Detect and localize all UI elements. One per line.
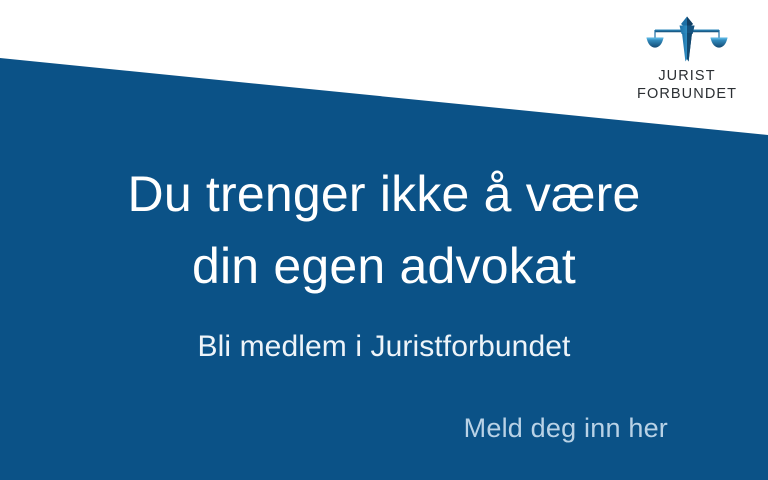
juristforbundet-logo[interactable]: JURIST FORBUNDET (637, 16, 737, 104)
headline: Du trenger ikke å være din egen advokat (0, 158, 768, 302)
headline-line-1: Du trenger ikke å være (0, 158, 768, 230)
subtitle: Bli medlem i Juristforbundet (0, 328, 768, 366)
logo-text-jurist: JURIST (637, 67, 737, 85)
scales-of-justice-icon (646, 16, 728, 62)
headline-line-2: din egen advokat (0, 230, 768, 302)
logo-text-forbundet: FORBUNDET (637, 85, 737, 103)
signup-link[interactable]: Meld deg inn her (0, 411, 768, 445)
advertisement-banner: JURIST FORBUNDET Du trenger ikke å være … (0, 0, 768, 480)
